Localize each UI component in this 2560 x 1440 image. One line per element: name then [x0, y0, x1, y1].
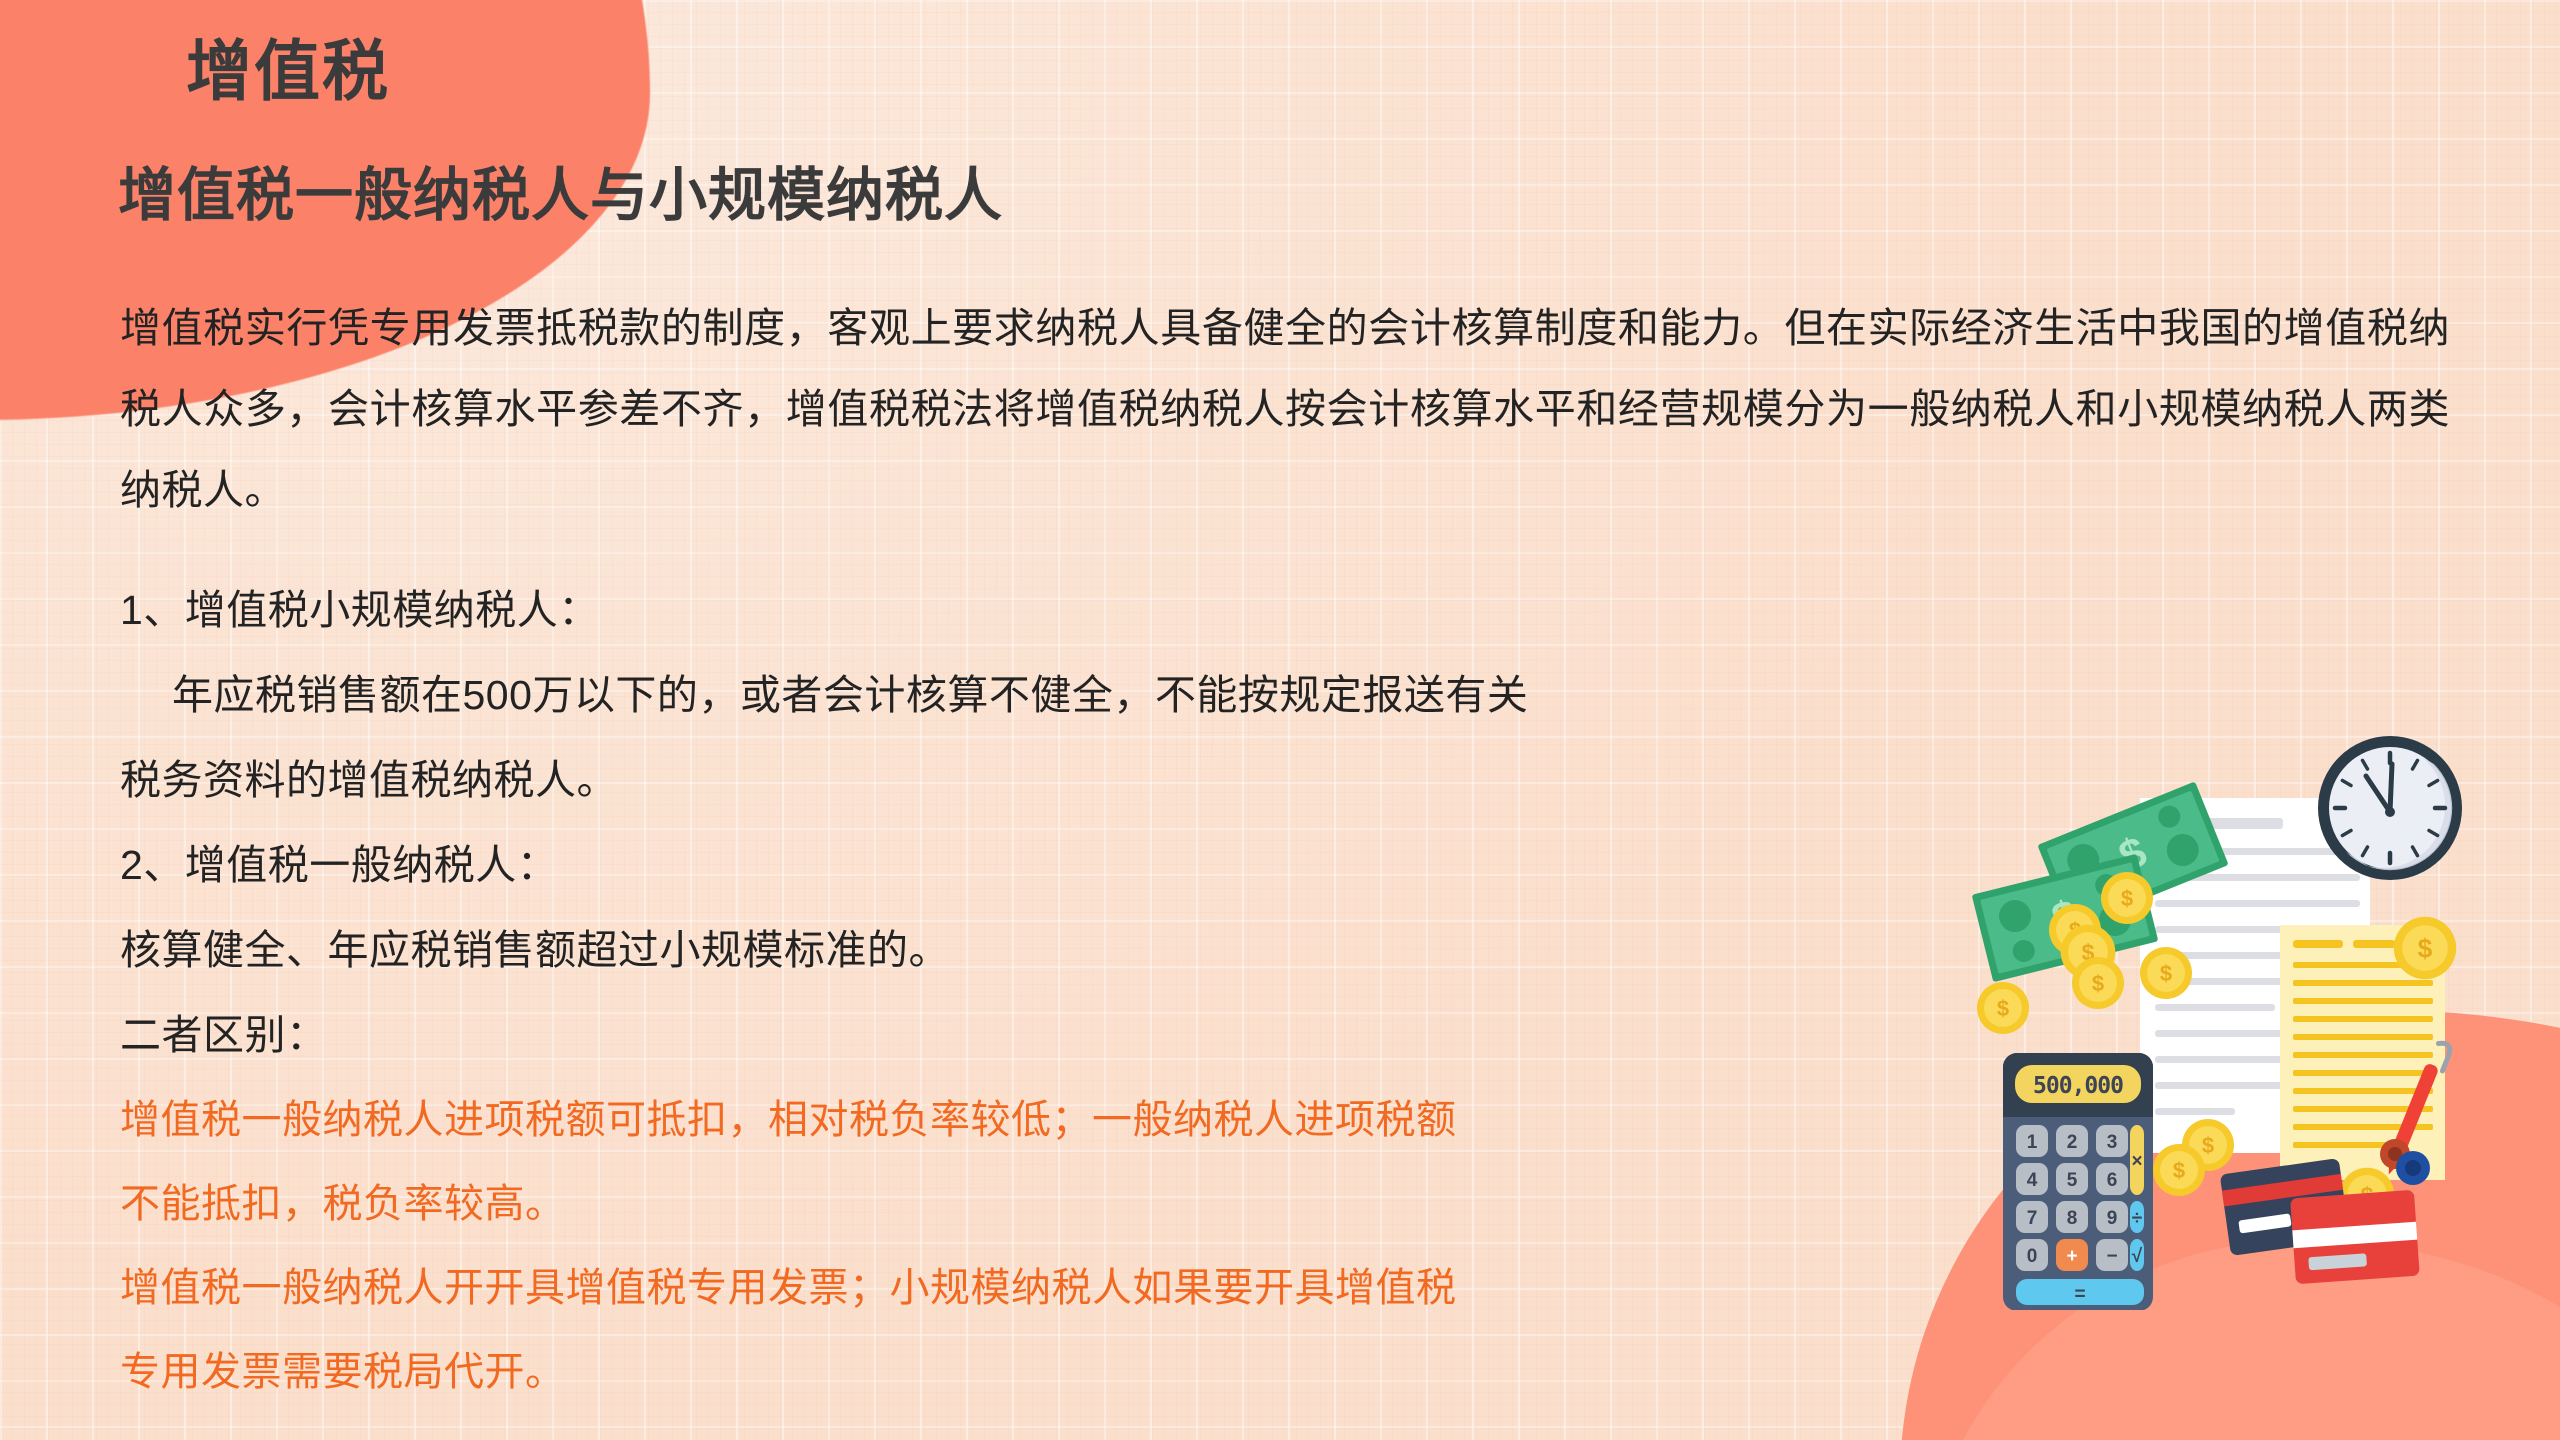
svg-text:5: 5: [2067, 1170, 2078, 1191]
svg-text:÷: ÷: [2132, 1208, 2142, 1229]
svg-text:8: 8: [2067, 1208, 2078, 1229]
list-item: 核算健全、年应税销售额超过小规模标准的。: [120, 908, 2170, 993]
list-item: 2、增值税一般纳税人：: [120, 823, 2170, 908]
page-subtitle: 增值税一般纳税人与小规模纳税人: [118, 148, 1003, 232]
coin-icon: [2153, 1144, 2205, 1196]
svg-text:2: 2: [2067, 1132, 2078, 1153]
finance-tax-illustration: $ $: [1955, 690, 2560, 1310]
list-item-highlight: 不能抵扣，税负率较高。: [120, 1162, 2170, 1246]
svg-text:0: 0: [2027, 1246, 2038, 1267]
coin-icon: [2101, 872, 2153, 924]
page-title: 增值税: [186, 18, 390, 114]
svg-text:7: 7: [2027, 1208, 2038, 1229]
list-item-highlight: 增值税一般纳税人开开具增值税专用发票；小规模纳税人如果要开具增值税: [120, 1246, 2170, 1330]
svg-text:×: ×: [2131, 1151, 2142, 1172]
svg-text:6: 6: [2107, 1170, 2118, 1191]
list-item-highlight: 专用发票需要税局代开。: [120, 1330, 2170, 1414]
body-lines: 1、增值税小规模纳税人： 年应税销售额在500万以下的，或者会计核算不健全，不能…: [120, 568, 2170, 1414]
list-item-highlight: 增值税一般纳税人进项税额可抵扣，相对税负率较低；一般纳税人进项税额: [120, 1078, 2170, 1162]
coin-icon: [2140, 947, 2192, 999]
coin-icon: [2072, 957, 2124, 1009]
intro-paragraph: 增值税实行凭专用发票抵税款的制度，客观上要求纳税人具备健全的会计核算制度和能力。…: [120, 288, 2450, 531]
list-item: 1、增值税小规模纳税人：: [120, 568, 2170, 653]
list-item: 年应税销售额在500万以下的，或者会计核算不健全，不能按规定报送有关: [120, 653, 2170, 738]
svg-text:9: 9: [2107, 1208, 2118, 1229]
calculator-icon: 500,000: [2003, 1053, 2153, 1310]
svg-text:−: −: [2106, 1246, 2117, 1267]
svg-text:=: =: [2074, 1284, 2085, 1305]
credit-card-icon: [2290, 1190, 2420, 1284]
svg-text:4: 4: [2027, 1170, 2038, 1191]
svg-text:√: √: [2132, 1246, 2143, 1267]
coin-icon: [1977, 982, 2029, 1034]
svg-text:1: 1: [2027, 1132, 2038, 1153]
slide-canvas: 增值税 增值税一般纳税人与小规模纳税人 增值税实行凭专用发票抵税款的制度，客观上…: [0, 0, 2560, 1440]
list-item: 二者区别：: [120, 993, 2170, 1078]
slide-content: 增值税 增值税一般纳税人与小规模纳税人 增值税实行凭专用发票抵税款的制度，客观上…: [0, 0, 2560, 1440]
list-item: 税务资料的增值税纳税人。: [120, 738, 2170, 823]
svg-text:3: 3: [2107, 1132, 2118, 1153]
clock-icon: [2318, 736, 2462, 880]
coin-icon: [2394, 917, 2456, 979]
svg-text:+: +: [2066, 1246, 2077, 1267]
calculator-display: 500,000: [2033, 1073, 2123, 1099]
